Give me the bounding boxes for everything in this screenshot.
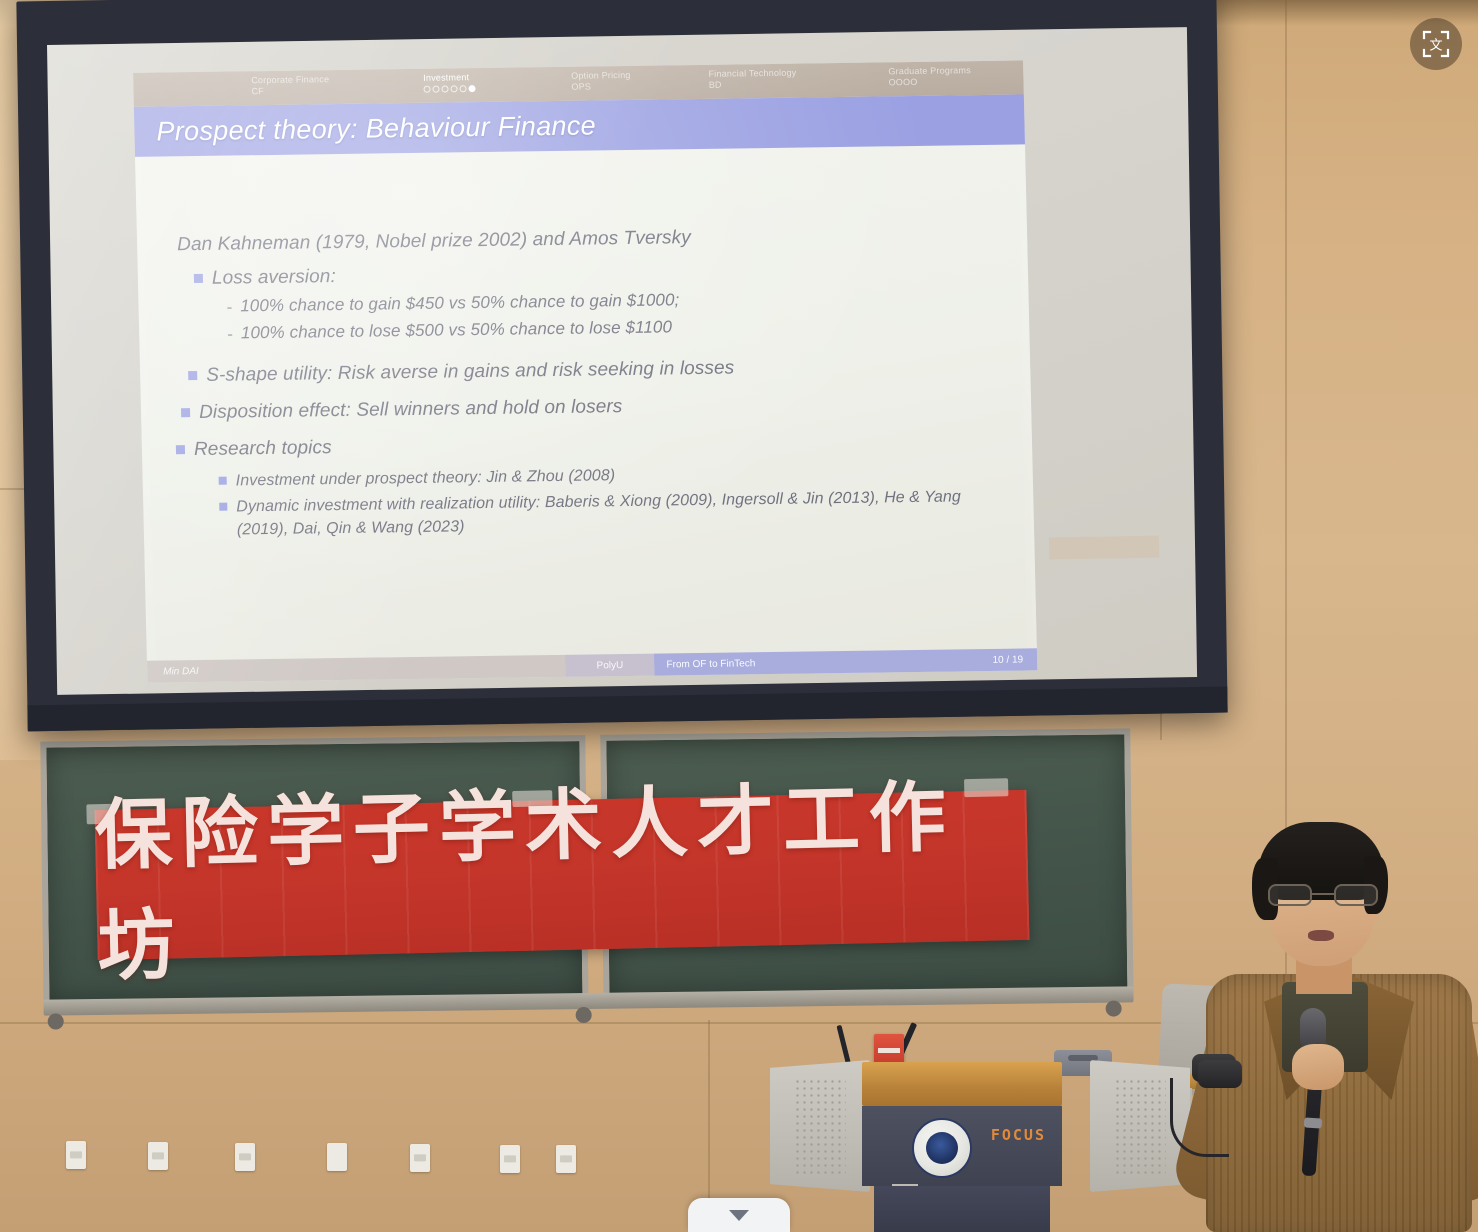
nav-section-sub: OPS (571, 81, 631, 93)
bullet-s-shape-utility: S-shape utility: Risk averse in gains an… (188, 352, 1003, 388)
nav-section-label: Investment (423, 72, 475, 84)
nav-section-label: Graduate Programs (888, 65, 971, 77)
nav-dot-6-current (468, 85, 475, 92)
bullet-text: Investment under prospect theory: Jin & … (235, 464, 615, 492)
bullet-text: Disposition effect: Sell winners and hol… (199, 394, 623, 425)
crest-inner (926, 1132, 958, 1164)
event-banner: 保险学子学术人才工作坊 (94, 790, 1029, 960)
nav-section-label: Financial Technology (708, 68, 796, 80)
glasses-icon (1268, 884, 1378, 906)
microphone-ring (1304, 1117, 1323, 1128)
speaker-mouth (1308, 930, 1334, 941)
nav-section-sub: CF (251, 85, 329, 97)
bullet-square-icon (176, 445, 185, 454)
speaker-grill-icon (1114, 1078, 1166, 1174)
slide-footer: Min DAI PolyU From OF to FinTech 10 / 19 (147, 648, 1037, 682)
nav-section-sub: BD (709, 79, 797, 91)
podium-front-panel: FOCUS (862, 1106, 1062, 1186)
nav-section-financial-technology: Financial Technology BD (708, 64, 796, 91)
wall-switch-2 (500, 1145, 520, 1173)
bullet-text: Dynamic investment with realization util… (236, 485, 980, 541)
dash-icon: - (226, 295, 232, 320)
wall-outlet-3 (410, 1144, 430, 1172)
nav-progress-dots (423, 85, 475, 93)
svg-text:文: 文 (1429, 39, 1442, 54)
nav-dot-4 (450, 85, 457, 92)
podium-brand-label: FOCUS (991, 1126, 1046, 1144)
speaker-hand-holding-mic (1292, 1044, 1344, 1090)
bullet-square-icon (181, 408, 190, 417)
slide-lead-line: Dan Kahneman (1979, Nobel prize 2002) an… (177, 223, 999, 256)
podium-speaker-left (770, 1060, 870, 1192)
speaker-presenter (1196, 822, 1478, 1232)
lecture-podium: FOCUS (770, 1018, 1190, 1232)
nav-dot-1 (423, 86, 430, 93)
footer-author-area: Min DAI (147, 655, 566, 683)
caret-glyph (729, 1210, 749, 1221)
photo-viewport: 保险学子学术人才工作坊 Corporate Finance CF Investm… (0, 0, 1478, 1232)
speaker-grill-icon (794, 1078, 846, 1174)
board-knob-right (1106, 1000, 1122, 1016)
bullet-disposition-effect: Disposition effect: Sell winners and hol… (181, 389, 1004, 425)
banner-text: 保险学子学术人才工作坊 (94, 790, 1029, 960)
slide-title: Prospect theory: Behaviour Finance (134, 110, 596, 147)
nav-section-sub: OOOO (889, 76, 972, 88)
nav-section-label: Corporate Finance (251, 74, 329, 86)
bullet-text: 100% chance to gain $450 vs 50% chance t… (240, 288, 680, 318)
bullet-text: 100% chance to lose $500 vs 50% chance t… (241, 315, 673, 345)
cable (1170, 1078, 1229, 1157)
podium-wooden-top (862, 1062, 1062, 1106)
board-knob-mid (576, 1007, 592, 1023)
bullet-text: Research topics (194, 435, 332, 462)
text-scan-icon[interactable]: 文 (1410, 18, 1462, 70)
presentation-slide: Corporate Finance CF Investment (133, 60, 1037, 682)
glasses-bridge (1312, 893, 1334, 895)
bullet-square-icon (219, 477, 227, 485)
footer-institution-area: PolyU (565, 654, 655, 677)
slide-body: Dan Kahneman (1979, Nobel prize 2002) an… (135, 144, 1037, 652)
footer-author: Min DAI (147, 665, 199, 677)
dash-icon: - (227, 322, 233, 347)
bullet-square-icon (194, 274, 203, 283)
board-knob-left (48, 1013, 64, 1029)
bullet-text: S-shape utility: Risk averse in gains an… (206, 356, 735, 388)
glasses-lens-left (1268, 884, 1312, 906)
nav-dot-3 (441, 85, 448, 92)
sub-bullet-realization-utility: Dynamic investment with realization util… (219, 485, 1006, 542)
wall-switch-1 (148, 1142, 168, 1170)
university-crest-icon (912, 1118, 972, 1178)
footer-institution: PolyU (596, 660, 623, 671)
nav-dot-2 (432, 86, 439, 93)
wall-outlet-1 (66, 1141, 86, 1169)
bullet-text: Loss aversion: (212, 264, 337, 291)
wall-blank-plate (327, 1143, 347, 1171)
glasses-lens-right (1334, 884, 1378, 906)
nav-dot-5 (459, 85, 466, 92)
projection-screen-surface: Corporate Finance CF Investment (47, 27, 1197, 695)
nav-section-corporate-finance: Corporate Finance CF (251, 70, 330, 97)
bullet-square-icon (219, 503, 227, 511)
chevron-down-icon[interactable] (688, 1198, 790, 1232)
footer-deck-area: From OF to FinTech 10 / 19 (654, 648, 1037, 675)
nav-section-investment: Investment (423, 68, 476, 93)
podium-base (874, 1186, 1050, 1232)
wall-outlet-2 (235, 1143, 255, 1171)
bullet-square-icon (188, 371, 197, 380)
footer-deck-title: From OF to FinTech (666, 658, 755, 670)
footer-page-number: 10 / 19 (992, 654, 1023, 665)
projection-artifact (1049, 536, 1159, 560)
nav-section-option-pricing: Option Pricing OPS (571, 66, 631, 93)
bullet-research-topics: Research topics (176, 426, 1005, 463)
nav-section-label: Option Pricing (571, 70, 631, 82)
nav-section-graduate-programs: Graduate Programs OOOO (888, 61, 971, 88)
projection-screen-frame: Corporate Finance CF Investment (16, 0, 1227, 731)
wall-outlet-4 (556, 1145, 576, 1173)
